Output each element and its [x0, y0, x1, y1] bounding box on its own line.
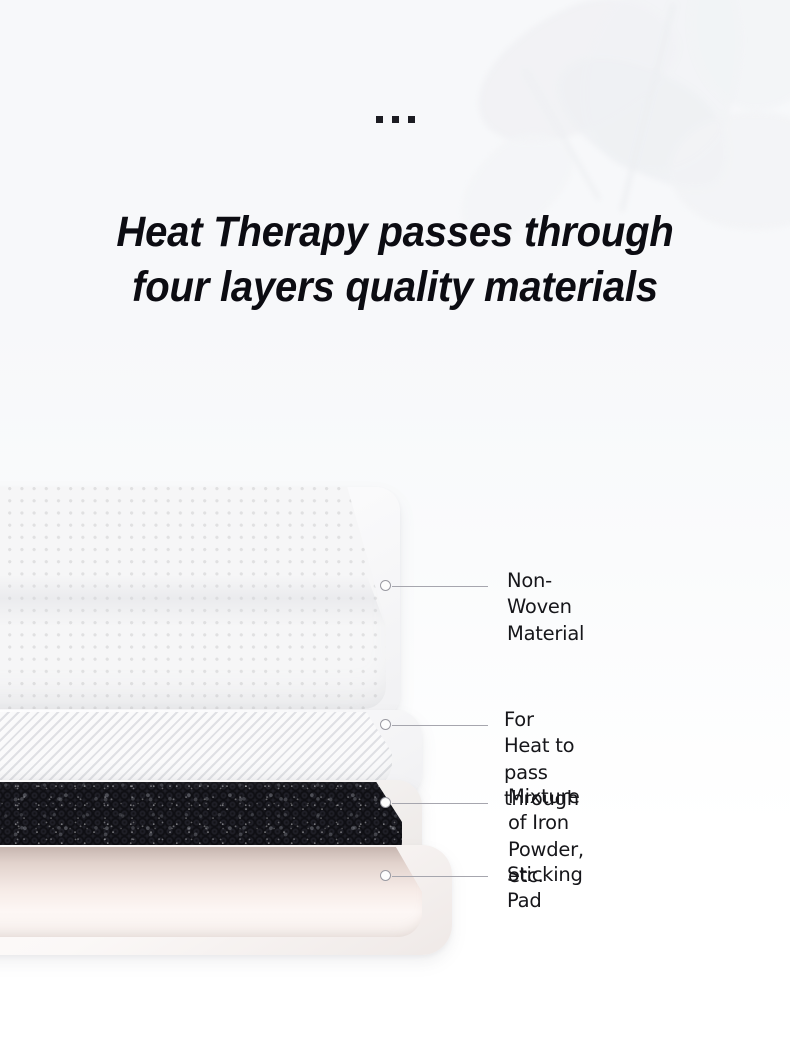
layer-heat-pass-surface — [0, 712, 392, 786]
callout-label-non-woven: Non-Woven Material — [507, 568, 584, 647]
callout-label-sticking-pad: Sticking Pad — [507, 862, 583, 915]
callout-marker-icon — [380, 719, 391, 730]
callout-leader-line — [392, 725, 488, 726]
callout-marker-icon — [380, 797, 391, 808]
callout-marker-icon — [380, 580, 391, 591]
infographic-page: Heat Therapy passes through four layers … — [0, 0, 790, 1062]
layer-non-woven-surface — [0, 487, 386, 709]
callout-leader-line — [392, 586, 488, 587]
callout-leader-line — [392, 876, 488, 877]
layer-sticking-pad-surface — [0, 847, 422, 937]
callout-marker-icon — [380, 870, 391, 881]
layer-stack-graphic — [0, 0, 790, 1062]
callout-leader-line — [392, 803, 488, 804]
